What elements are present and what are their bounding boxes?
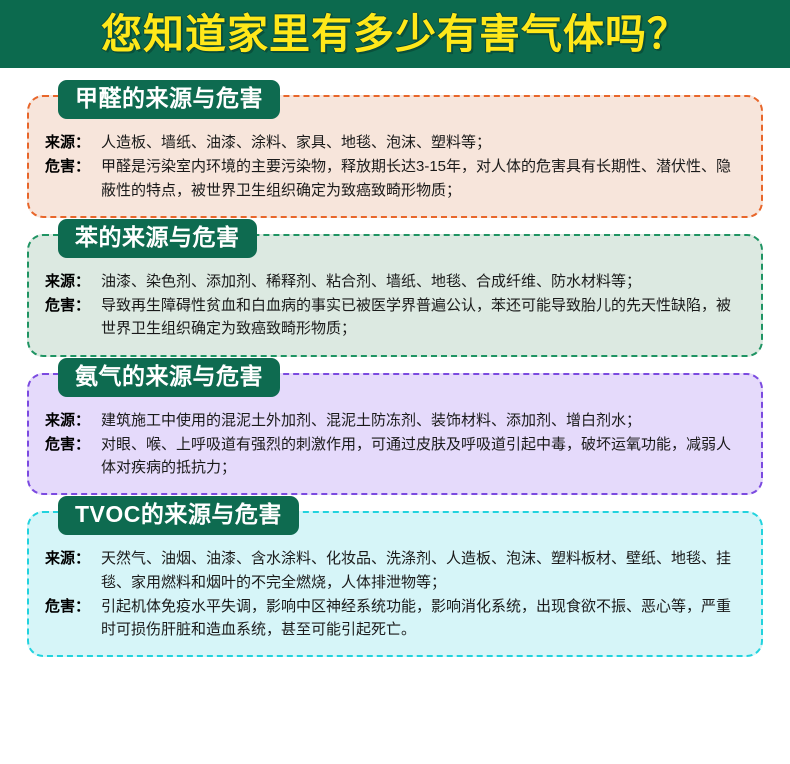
source-text: 油漆、染色剂、添加剂、稀释剂、粘合剂、墙纸、地毯、合成纤维、防水材料等； [101,270,745,293]
source-text: 天然气、油烟、油漆、含水涂料、化妆品、洗涤剂、人造板、泡沫、塑料板材、壁纸、地毯… [101,547,745,594]
hazard-label: 危害： [45,595,101,618]
section-body-tvoc: 来源： 天然气、油烟、油漆、含水涂料、化妆品、洗涤剂、人造板、泡沫、塑料板材、壁… [45,547,745,641]
section-card-ammonia: 氨气的来源与危害 来源： 建筑施工中使用的混泥土外加剂、混泥土防冻剂、装饰材料、… [27,373,763,496]
infographic-page: 您知道家里有多少有害气体吗？ 甲醛的来源与危害 来源： 人造板、墙纸、油漆、涂料… [0,0,790,764]
section-card-formaldehyde: 甲醛的来源与危害 来源： 人造板、墙纸、油漆、涂料、家具、地毯、泡沫、塑料等； … [27,95,763,218]
hazard-row: 危害： 甲醛是污染室内环境的主要污染物，释放期长达3-15年，对人体的危害具有长… [45,155,745,202]
source-label: 来源： [45,409,101,432]
hazard-label: 危害： [45,294,101,317]
section-title-formaldehyde: 甲醛的来源与危害 [58,80,280,119]
section-title-tvoc: TVOC的来源与危害 [58,496,299,535]
hazard-row: 危害： 导致再生障碍性贫血和白血病的事实已被医学界普遍公认，苯还可能导致胎儿的先… [45,294,745,341]
hazard-label: 危害： [45,433,101,456]
source-row: 来源： 人造板、墙纸、油漆、涂料、家具、地毯、泡沫、塑料等； [45,131,745,154]
source-text: 建筑施工中使用的混泥土外加剂、混泥土防冻剂、装饰材料、添加剂、增白剂水； [101,409,745,432]
source-row: 来源： 建筑施工中使用的混泥土外加剂、混泥土防冻剂、装饰材料、添加剂、增白剂水； [45,409,745,432]
source-row: 来源： 天然气、油烟、油漆、含水涂料、化妆品、洗涤剂、人造板、泡沫、塑料板材、壁… [45,547,745,594]
section-body-ammonia: 来源： 建筑施工中使用的混泥土外加剂、混泥土防冻剂、装饰材料、添加剂、增白剂水；… [45,409,745,480]
hazard-row: 危害： 对眼、喉、上呼吸道有强烈的刺激作用，可通过皮肤及呼吸道引起中毒，破坏运氧… [45,433,745,480]
section-body-formaldehyde: 来源： 人造板、墙纸、油漆、涂料、家具、地毯、泡沫、塑料等； 危害： 甲醛是污染… [45,131,745,202]
source-label: 来源： [45,547,101,570]
hazard-text: 导致再生障碍性贫血和白血病的事实已被医学界普遍公认，苯还可能导致胎儿的先天性缺陷… [101,294,745,341]
page-header: 您知道家里有多少有害气体吗？ [0,0,790,68]
source-row: 来源： 油漆、染色剂、添加剂、稀释剂、粘合剂、墙纸、地毯、合成纤维、防水材料等； [45,270,745,293]
hazard-row: 危害： 引起机体免疫水平失调，影响中区神经系统功能，影响消化系统，出现食欲不振、… [45,595,745,642]
source-label: 来源： [45,270,101,293]
sections-container: 甲醛的来源与危害 来源： 人造板、墙纸、油漆、涂料、家具、地毯、泡沫、塑料等； … [0,68,790,673]
hazard-text: 引起机体免疫水平失调，影响中区神经系统功能，影响消化系统，出现食欲不振、恶心等，… [101,595,745,642]
source-text: 人造板、墙纸、油漆、涂料、家具、地毯、泡沫、塑料等； [101,131,745,154]
section-body-benzene: 来源： 油漆、染色剂、添加剂、稀释剂、粘合剂、墙纸、地毯、合成纤维、防水材料等；… [45,270,745,341]
section-card-tvoc: TVOC的来源与危害 来源： 天然气、油烟、油漆、含水涂料、化妆品、洗涤剂、人造… [27,511,763,657]
section-card-benzene: 苯的来源与危害 来源： 油漆、染色剂、添加剂、稀释剂、粘合剂、墙纸、地毯、合成纤… [27,234,763,357]
source-label: 来源： [45,131,101,154]
hazard-label: 危害： [45,155,101,178]
hazard-text: 对眼、喉、上呼吸道有强烈的刺激作用，可通过皮肤及呼吸道引起中毒，破坏运氧功能，减… [101,433,745,480]
section-title-ammonia: 氨气的来源与危害 [58,358,280,397]
page-title: 您知道家里有多少有害气体吗？ [101,14,689,55]
section-title-benzene: 苯的来源与危害 [58,219,257,258]
hazard-text: 甲醛是污染室内环境的主要污染物，释放期长达3-15年，对人体的危害具有长期性、潜… [101,155,745,202]
